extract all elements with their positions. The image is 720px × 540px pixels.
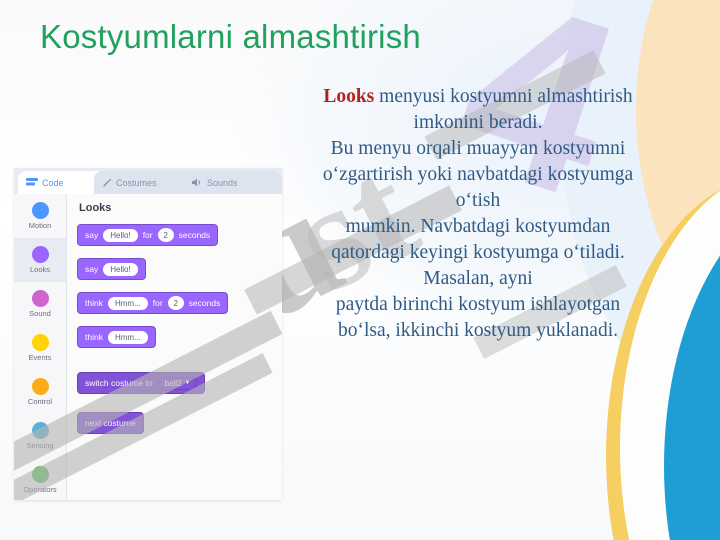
block-say-for-seconds[interactable]: say Hello! for 2 seconds <box>77 224 218 246</box>
tab-code-label: Code <box>42 178 64 188</box>
block-say[interactable]: say Hello! <box>77 258 146 280</box>
category-sound-icon <box>32 290 49 307</box>
keyword-looks: Looks <box>323 86 374 107</box>
body-line-8: paytda birinchi kostyum ishlayotgan <box>336 294 620 315</box>
tab-sounds[interactable]: Sounds <box>184 171 282 194</box>
costume-dropdown-value: ball2 <box>165 379 182 388</box>
block-switch-costume[interactable]: switch costume to ball2 ▼ <box>77 372 205 394</box>
block-verb: next costume <box>85 418 136 428</box>
block-verb: say <box>85 230 98 240</box>
block-verb: think <box>85 332 103 342</box>
block-think[interactable]: think Hmm... <box>77 326 156 348</box>
category-sensing-label: Sensing <box>26 441 53 450</box>
body-line-5: mumkin. Navbatdagi kostyumdan <box>346 216 611 237</box>
category-looks-label: Looks <box>30 265 50 274</box>
block-unit-label: seconds <box>179 230 211 240</box>
brush-icon <box>102 178 112 188</box>
block-mid-label: for <box>153 298 163 308</box>
category-sensing[interactable]: Sensing <box>14 414 66 458</box>
speaker-icon <box>192 178 203 187</box>
category-sound-label: Sound <box>29 309 51 318</box>
category-sensing-icon <box>32 422 49 439</box>
block-verb: say <box>85 264 98 274</box>
category-control-icon <box>32 378 49 395</box>
scratch-category-list[interactable]: Motion Looks Sound Events Control Sensin… <box>14 194 67 500</box>
code-icon <box>26 178 38 187</box>
chevron-down-icon: ▼ <box>184 380 190 386</box>
category-looks[interactable]: Looks <box>14 238 66 282</box>
tab-costumes-label: Costumes <box>116 178 157 188</box>
category-operators-label: Operators <box>23 485 56 494</box>
category-events[interactable]: Events <box>14 326 66 370</box>
scratch-editor-screenshot: Code Costumes Sounds Motion <box>14 168 282 500</box>
block-verb: think <box>85 298 103 308</box>
body-line-6: qatordagi keyingi kostyumga o‘tiladi. <box>331 242 625 263</box>
costume-dropdown[interactable]: ball2 ▼ <box>158 377 198 390</box>
category-events-icon <box>32 334 49 351</box>
category-sound[interactable]: Sound <box>14 282 66 326</box>
category-control[interactable]: Control <box>14 370 66 414</box>
block-text-input[interactable]: Hmm... <box>108 331 148 344</box>
category-control-label: Control <box>28 397 52 406</box>
category-looks-icon <box>32 246 49 263</box>
block-think-for-seconds[interactable]: think Hmm... for 2 seconds <box>77 292 228 314</box>
block-text-input[interactable]: Hello! <box>103 263 137 276</box>
scratch-block-palette[interactable]: Looks say Hello! for 2 seconds say Hello… <box>67 194 282 500</box>
body-line-1: imkonini beradi. <box>414 112 543 133</box>
category-motion-icon <box>32 202 49 219</box>
body-line-7: Masalan, ayni <box>423 268 532 289</box>
block-text-input[interactable]: Hello! <box>103 229 137 242</box>
body-paragraph: Looks menyusi kostyumni almashtirish imk… <box>272 84 684 344</box>
category-events-label: Events <box>29 353 52 362</box>
body-line-4: o‘tish <box>456 190 500 211</box>
body-line-3: o‘zgartirish yoki navbatdagi kostyumga <box>323 164 633 185</box>
category-motion[interactable]: Motion <box>14 194 66 238</box>
category-operators-icon <box>32 466 49 483</box>
tab-sounds-label: Sounds <box>207 178 238 188</box>
tab-costumes[interactable]: Costumes <box>94 171 198 194</box>
block-number-input[interactable]: 2 <box>158 228 174 242</box>
category-motion-label: Motion <box>29 221 52 230</box>
block-text-input[interactable]: Hmm... <box>108 297 148 310</box>
body-line-2: Bu menyu orqali muayyan kostyumni <box>331 138 626 159</box>
block-mid-label: for <box>143 230 153 240</box>
category-operators[interactable]: Operators <box>14 458 66 500</box>
block-verb: switch costume to <box>85 378 153 388</box>
body-line-0: menyusi kostyumni almashtirish <box>379 86 633 107</box>
block-unit-label: seconds <box>189 298 221 308</box>
block-number-input[interactable]: 2 <box>168 296 184 310</box>
slide-canvas: 4 Kostyumlarni almashtirish Mu st Code C… <box>0 0 720 540</box>
block-next-costume[interactable]: next costume <box>77 412 144 434</box>
page-title: Kostyumlarni almashtirish <box>40 18 421 56</box>
palette-heading: Looks <box>79 202 111 214</box>
body-line-9: bo‘lsa, ikkinchi kostyum yuklanadi. <box>338 320 618 341</box>
scratch-tab-bar: Code Costumes Sounds <box>14 168 282 194</box>
